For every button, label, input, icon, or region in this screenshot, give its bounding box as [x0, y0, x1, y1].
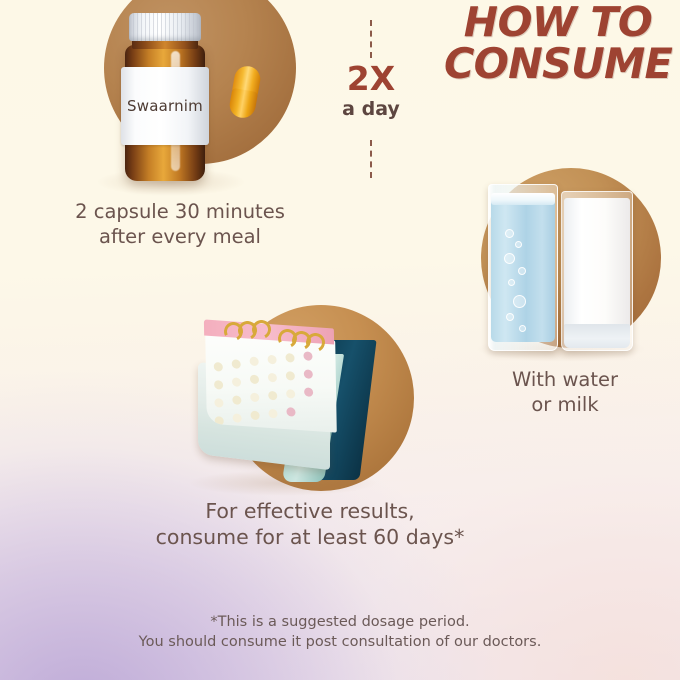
bubble-icon	[518, 267, 526, 275]
calendar-caption-line-1: For effective results,	[110, 498, 510, 524]
water-liquid	[491, 201, 555, 342]
page-title: HOW TO CONSUME	[432, 2, 680, 84]
bottle-caption: 2 capsule 30 minutes after every meal	[30, 200, 330, 250]
bubble-icon	[506, 313, 514, 321]
brand-name: Swaarnim	[127, 97, 203, 115]
frequency-unit: a day	[336, 100, 406, 119]
dashed-line-top	[370, 20, 372, 58]
milk-glass-icon	[561, 191, 633, 351]
bubble-icon	[515, 241, 522, 248]
poster-canvas: HOW TO CONSUME Swaarnim 2X a day 2 capsu…	[0, 0, 680, 680]
drink-caption-line-2: or milk	[470, 393, 660, 418]
calendar-caption: For effective results, consume for at le…	[110, 498, 510, 550]
calendar-caption-line-2: consume for at least 60 days*	[110, 524, 510, 550]
bubble-icon	[519, 325, 526, 332]
bubble-icon	[508, 279, 515, 286]
bubble-icon	[513, 295, 526, 308]
dashed-line-bottom	[370, 140, 372, 178]
bubble-icon	[505, 229, 514, 238]
bubble-icon	[504, 253, 515, 264]
drink-caption: With water or milk	[470, 368, 660, 418]
milk-liquid	[564, 198, 630, 328]
supplement-bottle-icon: Swaarnim	[119, 13, 211, 181]
glasses-illustration	[488, 173, 638, 351]
frequency-number: 2X	[336, 62, 406, 95]
water-glass-icon	[488, 184, 558, 351]
water-surface	[491, 193, 555, 205]
capsule-bottom-half	[228, 88, 258, 120]
milk-glass-base	[564, 324, 630, 348]
drink-caption-line-1: With water	[470, 368, 660, 393]
title-line-2: CONSUME	[432, 43, 680, 84]
title-line-1: HOW TO	[432, 2, 680, 43]
frequency-divider: 2X a day	[336, 20, 406, 180]
bottle-label: Swaarnim	[121, 67, 209, 145]
bottle-cap	[129, 13, 201, 41]
bottle-caption-line-1: 2 capsule 30 minutes	[30, 200, 330, 225]
footer-line-2: You should consume it post consultation …	[60, 632, 620, 652]
calendar-icon	[192, 318, 392, 488]
footer-disclaimer: *This is a suggested dosage period. You …	[60, 612, 620, 652]
footer-line-1: *This is a suggested dosage period.	[60, 612, 620, 632]
bottle-caption-line-2: after every meal	[30, 225, 330, 250]
